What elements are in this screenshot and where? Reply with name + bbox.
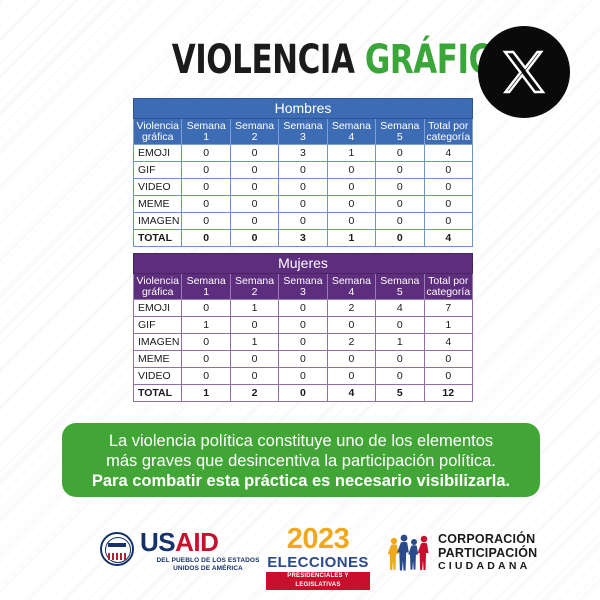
cell: 1 xyxy=(230,334,278,351)
col-header-line2: 4 xyxy=(348,131,354,143)
cell: 0 xyxy=(230,179,278,196)
table-header-row: Violenciagráfica Semana1 Semana2 Semana3… xyxy=(134,274,473,300)
cell: 0 xyxy=(279,385,327,402)
col-header-line2: 1 xyxy=(203,286,209,298)
cell: 0 xyxy=(230,230,278,247)
cell: 0 xyxy=(327,196,375,213)
cell: 0 xyxy=(327,213,375,230)
cpc-wordmark: CORPORACIÓN PARTICIPACIÓN CIUDADANA xyxy=(438,532,537,573)
col-header-line2: 3 xyxy=(300,286,306,298)
people-figures-icon xyxy=(388,532,432,572)
row-label: IMAGEN xyxy=(134,334,182,351)
cell: 0 xyxy=(182,145,230,162)
cell: 0 xyxy=(327,179,375,196)
row-label: MEME xyxy=(134,351,182,368)
cell: 4 xyxy=(424,334,472,351)
cell: 0 xyxy=(376,196,424,213)
cell: 0 xyxy=(376,317,424,334)
cell: 0 xyxy=(182,162,230,179)
cell: 0 xyxy=(230,162,278,179)
col-header-semana-4: Semana4 xyxy=(327,119,375,145)
cell: 5 xyxy=(376,385,424,402)
cpc-logo: CORPORACIÓN PARTICIPACIÓN CIUDADANA xyxy=(388,530,558,576)
table-total-row: TOTAL 1 2 0 4 5 12 xyxy=(134,385,473,402)
row-label: EMOJI xyxy=(134,300,182,317)
table-mujeres: Mujeres Violenciagráfica Semana1 Semana2… xyxy=(133,253,473,402)
cell: 0 xyxy=(279,334,327,351)
table-row: GIF 0 0 0 0 0 0 xyxy=(134,162,473,179)
cell: 0 xyxy=(230,213,278,230)
cell: 2 xyxy=(230,385,278,402)
cell: 4 xyxy=(327,385,375,402)
cell: 0 xyxy=(279,213,327,230)
cell: 0 xyxy=(230,317,278,334)
col-header-semana-3: Semana3 xyxy=(279,119,327,145)
infographic-page: VIOLENCIA GRÁFICA Hombres Violenciagráfi… xyxy=(0,0,600,600)
cpc-line-3: CIUDADANA xyxy=(438,560,537,573)
col-header-categoria: Violenciagráfica xyxy=(134,119,182,145)
cell: 1 xyxy=(376,334,424,351)
table-row: EMOJI 0 1 0 2 4 7 xyxy=(134,300,473,317)
cell: 0 xyxy=(376,162,424,179)
cell: 0 xyxy=(424,351,472,368)
row-label: MEME xyxy=(134,196,182,213)
cell: 4 xyxy=(376,300,424,317)
cell: 0 xyxy=(376,145,424,162)
cell: 0 xyxy=(327,368,375,385)
elecciones-name: ELECCIONES xyxy=(262,554,374,571)
table-row: EMOJI 0 0 3 1 0 4 xyxy=(134,145,473,162)
callout-line-2: más graves que desincentiva la participa… xyxy=(72,451,530,471)
col-header-semana-2: Semana2 xyxy=(230,119,278,145)
cell: 2 xyxy=(327,334,375,351)
table-row: IMAGEN 0 0 0 0 0 0 xyxy=(134,213,473,230)
cell: 1 xyxy=(424,317,472,334)
cell: 2 xyxy=(327,300,375,317)
table-row: MEME 0 0 0 0 0 0 xyxy=(134,196,473,213)
col-header-line2: 1 xyxy=(203,131,209,143)
cell: 3 xyxy=(279,145,327,162)
cell: 0 xyxy=(424,213,472,230)
table-row: IMAGEN 0 1 0 2 1 4 xyxy=(134,334,473,351)
col-header-semana-4: Semana4 xyxy=(327,274,375,300)
col-header-line2: 2 xyxy=(252,286,258,298)
title-text: VIOLENCIA GRÁFICA xyxy=(172,34,439,86)
row-label: IMAGEN xyxy=(134,213,182,230)
col-header-semana-1: Semana1 xyxy=(182,119,230,145)
cell: 0 xyxy=(376,230,424,247)
table-title-hombres: Hombres xyxy=(134,99,473,119)
cell: 1 xyxy=(182,385,230,402)
usaid-seal-stripes xyxy=(108,553,126,560)
cell: 0 xyxy=(376,368,424,385)
table-row: GIF 1 0 0 0 0 1 xyxy=(134,317,473,334)
cell: 0 xyxy=(182,351,230,368)
cell: 0 xyxy=(279,368,327,385)
col-header-line2: categoría xyxy=(426,131,470,143)
cell: 0 xyxy=(230,196,278,213)
cell: 3 xyxy=(279,230,327,247)
cpc-line-2: PARTICIPACIÓN xyxy=(438,546,537,560)
cell: 0 xyxy=(279,162,327,179)
col-header-semana-3: Semana3 xyxy=(279,274,327,300)
cell: 0 xyxy=(182,368,230,385)
table-total-row: TOTAL 0 0 3 1 0 4 xyxy=(134,230,473,247)
col-header-line2: 2 xyxy=(252,131,258,143)
col-header-line2: 3 xyxy=(300,131,306,143)
table-title-mujeres: Mujeres xyxy=(134,254,473,274)
cell: 0 xyxy=(424,162,472,179)
col-header-semana-1: Semana1 xyxy=(182,274,230,300)
cell: 1 xyxy=(327,230,375,247)
table-hombres: Hombres Violenciagráfica Semana1 Semana2… xyxy=(133,98,473,247)
col-header-semana-2: Semana2 xyxy=(230,274,278,300)
cell: 1 xyxy=(182,317,230,334)
cell: 0 xyxy=(376,351,424,368)
cell: 0 xyxy=(182,213,230,230)
col-header-line2: gráfica xyxy=(142,286,174,298)
elecciones-year: 2023 xyxy=(262,524,374,554)
cell: 0 xyxy=(230,145,278,162)
col-header-categoria: Violenciagráfica xyxy=(134,274,182,300)
elecciones-logo: 2023 ELECCIONES PRESIDENCIALES Y LEGISLA… xyxy=(262,524,374,590)
cell: 0 xyxy=(327,162,375,179)
col-header-line2: 5 xyxy=(397,286,403,298)
col-header-total: Total porcategoría xyxy=(424,119,472,145)
callout-message: La violencia política constituye uno de … xyxy=(62,423,540,497)
cell: 4 xyxy=(424,145,472,162)
cell: 0 xyxy=(230,368,278,385)
col-header-line2: gráfica xyxy=(142,131,174,143)
cell: 0 xyxy=(327,351,375,368)
row-label: TOTAL xyxy=(134,230,182,247)
table-row: MEME 0 0 0 0 0 0 xyxy=(134,351,473,368)
cell: 0 xyxy=(279,300,327,317)
col-header-line2: 5 xyxy=(397,131,403,143)
x-twitter-icon xyxy=(478,26,570,118)
cpc-line-1: CORPORACIÓN xyxy=(438,532,537,546)
row-label: VIDEO xyxy=(134,179,182,196)
cell: 0 xyxy=(182,300,230,317)
cell: 4 xyxy=(424,230,472,247)
usaid-tagline: DEL PUEBLO DE LOS ESTADOS UNIDOS DE AMÉR… xyxy=(140,557,276,573)
cell: 0 xyxy=(279,179,327,196)
col-header-semana-5: Semana5 xyxy=(376,119,424,145)
cell: 0 xyxy=(424,179,472,196)
table-row: VIDEO 0 0 0 0 0 0 xyxy=(134,179,473,196)
cell: 0 xyxy=(182,334,230,351)
usaid-tagline-line2: UNIDOS DE AMÉRICA xyxy=(140,565,276,573)
col-header-line2: categoría xyxy=(426,286,470,298)
col-header-semana-5: Semana5 xyxy=(376,274,424,300)
cell: 0 xyxy=(182,196,230,213)
table-header-row: Violenciagráfica Semana1 Semana2 Semana3… xyxy=(134,119,473,145)
cell: 0 xyxy=(424,368,472,385)
table-title-row: Hombres xyxy=(134,99,473,119)
cell: 1 xyxy=(230,300,278,317)
callout-line-3: Para combatir esta práctica es necesario… xyxy=(72,471,530,491)
col-header-line2: 4 xyxy=(348,286,354,298)
cell: 0 xyxy=(327,317,375,334)
cell: 0 xyxy=(182,230,230,247)
cell: 1 xyxy=(327,145,375,162)
cell: 12 xyxy=(424,385,472,402)
cell: 7 xyxy=(424,300,472,317)
cell: 0 xyxy=(182,179,230,196)
usaid-word-us: US xyxy=(140,527,175,557)
usaid-seal-bar xyxy=(108,543,126,547)
footer-logos: USAID DEL PUEBLO DE LOS ESTADOS UNIDOS D… xyxy=(0,512,600,592)
row-label: EMOJI xyxy=(134,145,182,162)
usaid-word-aid: AID xyxy=(175,527,218,557)
cell: 0 xyxy=(279,196,327,213)
title-part-1: VIOLENCIA xyxy=(172,37,355,83)
cell: 0 xyxy=(376,213,424,230)
cell: 0 xyxy=(424,196,472,213)
table-row: VIDEO 0 0 0 0 0 0 xyxy=(134,368,473,385)
usaid-tagline-line1: DEL PUEBLO DE LOS ESTADOS xyxy=(140,557,276,565)
col-header-total: Total porcategoría xyxy=(424,274,472,300)
callout-line-1: La violencia política constituye uno de … xyxy=(72,431,530,451)
table-title-row: Mujeres xyxy=(134,254,473,274)
x-glyph-icon xyxy=(502,50,546,94)
usaid-wordmark: USAID xyxy=(140,528,218,556)
usaid-seal-icon xyxy=(100,532,134,566)
elecciones-subtitle: PRESIDENCIALES Y LEGISLATIVAS xyxy=(266,572,370,590)
row-label: VIDEO xyxy=(134,368,182,385)
row-label: TOTAL xyxy=(134,385,182,402)
row-label: GIF xyxy=(134,317,182,334)
cell: 0 xyxy=(279,317,327,334)
cell: 0 xyxy=(230,351,278,368)
cell: 0 xyxy=(376,179,424,196)
cell: 0 xyxy=(279,351,327,368)
row-label: GIF xyxy=(134,162,182,179)
